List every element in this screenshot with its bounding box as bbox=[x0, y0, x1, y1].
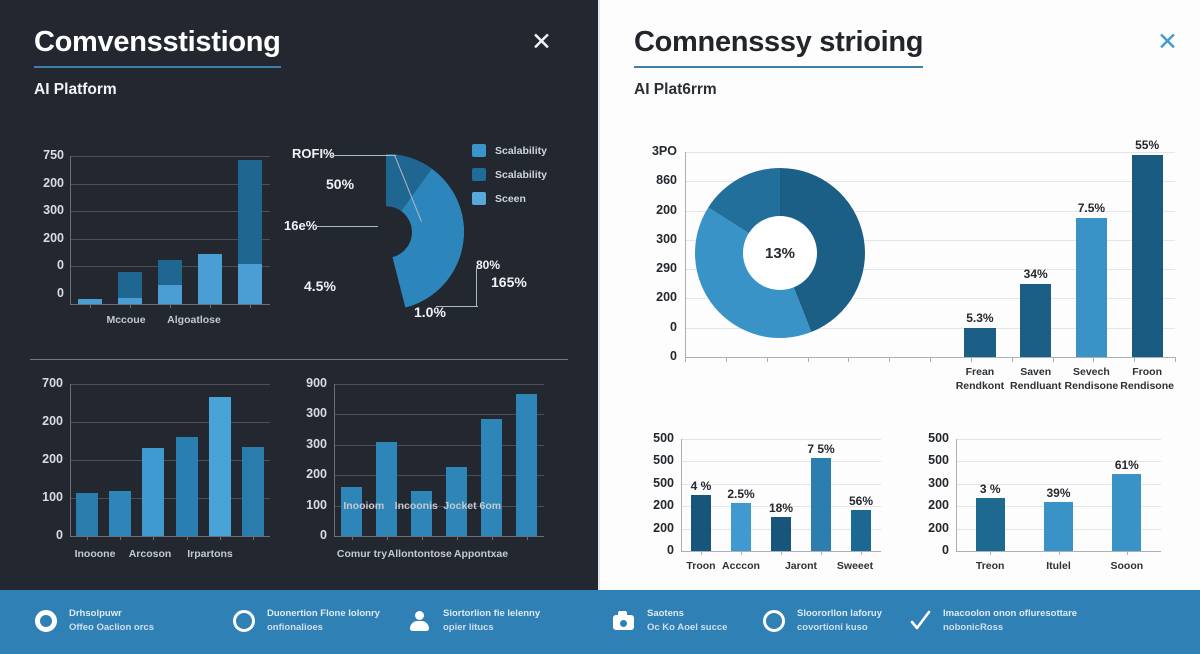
bar bbox=[964, 328, 995, 357]
x-tick bbox=[187, 536, 188, 540]
bar-value-label: 56% bbox=[831, 494, 891, 508]
page-title-right: Comnensssy strioing bbox=[634, 26, 923, 68]
x-tick bbox=[527, 536, 528, 540]
bar bbox=[811, 458, 831, 551]
gridline bbox=[681, 461, 881, 462]
bar bbox=[976, 498, 1005, 551]
x-tick bbox=[1134, 357, 1135, 362]
bar bbox=[1020, 284, 1051, 357]
bar-upper-segment bbox=[158, 260, 183, 285]
x-tick bbox=[422, 536, 423, 540]
leader-line bbox=[476, 268, 477, 306]
footer-item-line2: covortioni kuso bbox=[797, 622, 882, 634]
leader-line bbox=[316, 226, 378, 227]
person-head bbox=[415, 611, 424, 620]
camera-lens bbox=[620, 620, 627, 627]
y-axis-tick-label: 200 bbox=[635, 498, 674, 512]
left-panel: Comvensstistiong AI Platform ✕ 750200300… bbox=[0, 0, 598, 654]
y-axis-tick-label: 0 bbox=[34, 528, 63, 542]
footer-item-text: DrhsolpuwrOffeo Oaclion orcs bbox=[69, 608, 154, 634]
footer-item-line1: Sloororllon laforuy bbox=[797, 608, 882, 620]
donut-annotation-label: 80% bbox=[476, 258, 500, 272]
footer-item-line1: Drhsolpuwr bbox=[69, 608, 154, 620]
circle-ring-icon bbox=[762, 609, 786, 633]
x-axis-category-label: Itulel bbox=[1023, 560, 1095, 572]
bar-value-label: 5.3% bbox=[948, 311, 1012, 325]
bar bbox=[481, 419, 503, 536]
bar-value-label: 39% bbox=[1029, 486, 1089, 500]
y-axis-tick-label: 700 bbox=[34, 376, 63, 390]
page-subtitle: AI Platform bbox=[34, 81, 564, 99]
footer-item[interactable]: Duonertion Flone lolonryonfionalioes bbox=[232, 608, 380, 634]
bar-lower-segment bbox=[198, 254, 223, 304]
bar-value-label: 55% bbox=[1115, 138, 1179, 152]
bar bbox=[1112, 474, 1141, 551]
y-axis-line bbox=[70, 384, 71, 536]
bar-value-label: 7 5% bbox=[791, 442, 851, 456]
x-axis-category-label: Sooon bbox=[1091, 560, 1163, 572]
person-icon bbox=[408, 609, 432, 633]
y-axis-tick-label: 200 bbox=[910, 498, 949, 512]
y-axis-tick-label: 500 bbox=[910, 453, 949, 467]
close-icon-right[interactable]: ✕ bbox=[1157, 30, 1178, 55]
chart-right-bottom-right-bar: 50050030020020003 %39%61%TreonItulelSooo… bbox=[910, 425, 1175, 575]
close-icon[interactable]: ✕ bbox=[531, 30, 552, 55]
legend-swatch bbox=[472, 168, 486, 181]
x-tick bbox=[741, 551, 742, 555]
gridline bbox=[70, 156, 270, 157]
footer-bar: DrhsolpuwrOffeo Oaclion orcsDuonertion F… bbox=[0, 590, 1200, 654]
y-axis-tick-label: 300 bbox=[34, 203, 64, 217]
gridline bbox=[70, 422, 270, 423]
bar bbox=[516, 394, 538, 536]
bar-upper-segment bbox=[118, 272, 143, 298]
panel-divider bbox=[30, 359, 568, 360]
bar-group bbox=[118, 272, 143, 304]
footer-item-line1: Siortorlion fie lelenny bbox=[443, 608, 540, 620]
page-subtitle-right: AI Plat6rrm bbox=[634, 81, 1166, 99]
gridline bbox=[334, 384, 544, 385]
x-axis-line bbox=[334, 536, 544, 537]
x-axis-category-label: Irpartons bbox=[170, 548, 250, 560]
right-panel: Comnensssy strioing AI Plat6rrm ✕ 3PO860… bbox=[598, 0, 1200, 654]
y-axis-tick-label: 0 bbox=[34, 258, 64, 272]
inner-category-label: Jocket 6om bbox=[427, 500, 517, 512]
footer-item-line2: nobonicRoss bbox=[943, 622, 1077, 634]
bar bbox=[76, 493, 98, 536]
x-tick bbox=[1175, 357, 1176, 362]
bar bbox=[376, 442, 398, 536]
donut-chart-graphic bbox=[286, 140, 486, 330]
y-axis-tick-label: 300 bbox=[300, 406, 327, 420]
bar-group bbox=[198, 254, 223, 304]
x-tick bbox=[170, 304, 171, 308]
gridline bbox=[956, 439, 1161, 440]
x-tick bbox=[1053, 357, 1054, 362]
bar-value-label: 61% bbox=[1097, 458, 1157, 472]
x-tick bbox=[210, 304, 211, 308]
y-axis-tick-label: 500 bbox=[635, 431, 674, 445]
footer-item-line1: Duonertion Flone lolonry bbox=[267, 608, 380, 620]
person-body bbox=[410, 621, 429, 631]
bar-value-label: 18% bbox=[751, 501, 811, 515]
footer-item-text: Siortorlion fie lelennyopier litucs bbox=[443, 608, 540, 634]
donut-center-value: 13% bbox=[743, 216, 817, 290]
bar-group bbox=[158, 260, 183, 304]
x-tick bbox=[861, 551, 862, 555]
x-tick bbox=[253, 536, 254, 540]
x-tick bbox=[1059, 551, 1060, 555]
footer-item-line2: Offeo Oaclion orcs bbox=[69, 622, 154, 634]
y-axis-tick-label: 0 bbox=[34, 286, 64, 300]
x-tick bbox=[971, 357, 972, 362]
y-axis-tick-label: 500 bbox=[635, 453, 674, 467]
footer-item-line2: opier litucs bbox=[443, 622, 540, 634]
x-tick bbox=[130, 304, 131, 308]
y-axis-tick-label: 900 bbox=[300, 376, 327, 390]
x-tick bbox=[220, 536, 221, 540]
footer-item[interactable]: Sloororllon laforuycovortioni kuso bbox=[762, 608, 882, 634]
donut-annotation-label: ROFI% bbox=[292, 146, 335, 161]
footer-item-line1: Imacoolon onon ofluresottare bbox=[943, 608, 1077, 620]
x-tick bbox=[1093, 357, 1094, 362]
y-axis-tick-label: 0 bbox=[910, 543, 949, 557]
bar-value-label: 2.5% bbox=[711, 487, 771, 501]
y-axis-line bbox=[70, 156, 71, 304]
gridline bbox=[334, 414, 544, 415]
x-axis-category-label: Algoatlose bbox=[154, 314, 234, 326]
gridline bbox=[334, 445, 544, 446]
bar-value-label: 3 % bbox=[960, 482, 1020, 496]
x-tick bbox=[457, 536, 458, 540]
y-axis-tick-label: 200 bbox=[635, 521, 674, 535]
x-tick bbox=[250, 304, 251, 308]
bar bbox=[209, 397, 231, 536]
y-axis-tick-label: 200 bbox=[300, 467, 327, 481]
y-axis-tick-label: 750 bbox=[34, 148, 64, 162]
bar-value-label: 34% bbox=[1004, 267, 1068, 281]
footer-item-text: Duonertion Flone lolonryonfionalioes bbox=[267, 608, 380, 634]
y-axis-tick-label: 200 bbox=[34, 414, 63, 428]
footer-item-text: Imacoolon onon ofluresottarenobonicRoss bbox=[943, 608, 1077, 634]
footer-item[interactable]: SaotensOc Ko Aoel succe bbox=[612, 608, 727, 634]
legend-swatch bbox=[472, 144, 486, 157]
bar bbox=[731, 503, 751, 551]
legend-item: Sceen bbox=[472, 192, 526, 205]
circle-ring-icon bbox=[34, 609, 58, 633]
x-tick bbox=[352, 536, 353, 540]
gridline bbox=[681, 439, 881, 440]
footer-item-line2: onfionalioes bbox=[267, 622, 380, 634]
x-tick bbox=[701, 551, 702, 555]
bar bbox=[771, 517, 791, 551]
x-tick bbox=[990, 551, 991, 555]
donut-annotation-label: 165% bbox=[491, 274, 527, 290]
legend-item: Scalability bbox=[472, 144, 547, 157]
x-tick bbox=[120, 536, 121, 540]
footer-item-line2: Oc Ko Aoel succe bbox=[647, 622, 727, 634]
chart-left-bottom-left-bar: 7002002001000InoooneArcosonIrpartons bbox=[34, 378, 274, 568]
ring-shape bbox=[763, 610, 785, 632]
x-tick bbox=[492, 536, 493, 540]
y-axis-tick-label: 200 bbox=[34, 231, 64, 245]
right-panel-header: Comnensssy strioing AI Plat6rrm bbox=[600, 0, 1200, 99]
checkmark-icon bbox=[908, 609, 932, 633]
footer-item[interactable]: Imacoolon onon ofluresottarenobonicRoss bbox=[908, 608, 1077, 634]
gridline bbox=[334, 475, 544, 476]
y-axis-tick-label: 500 bbox=[910, 431, 949, 445]
y-axis-tick-label: 200 bbox=[910, 521, 949, 535]
leader-line bbox=[330, 155, 396, 156]
leader-line bbox=[436, 306, 478, 307]
bar-group bbox=[238, 160, 263, 304]
camera-icon bbox=[612, 609, 636, 633]
chart-right-bottom-left-bar: 50050050020020004 %2.5%18%7 5%56%TroonAc… bbox=[635, 425, 895, 575]
category-line-1: Froon bbox=[1101, 366, 1193, 380]
x-axis-category-label: Appontxae bbox=[436, 548, 526, 560]
gridline bbox=[70, 384, 270, 385]
x-tick bbox=[90, 304, 91, 308]
bar bbox=[1044, 502, 1073, 551]
gridline bbox=[70, 460, 270, 461]
page-title: Comvensstistiong bbox=[34, 26, 281, 68]
bar bbox=[176, 437, 198, 536]
x-axis-category-label: Sweeet bbox=[819, 560, 891, 572]
bar-upper-segment bbox=[238, 160, 263, 264]
bar bbox=[242, 447, 264, 536]
bar bbox=[1132, 155, 1163, 357]
x-tick bbox=[1127, 551, 1128, 555]
y-axis-line bbox=[956, 439, 957, 551]
bar bbox=[1076, 218, 1107, 357]
y-axis-tick-label: 300 bbox=[300, 437, 327, 451]
bar bbox=[411, 491, 433, 536]
bar bbox=[691, 495, 711, 551]
footer-item-text: Sloororllon laforuycovortioni kuso bbox=[797, 608, 882, 634]
screenshot-root: Comvensstistiong AI Platform ✕ 750200300… bbox=[0, 0, 1200, 654]
x-axis-category-label: FroonRendisone bbox=[1101, 366, 1193, 393]
x-tick bbox=[781, 551, 782, 555]
bar-lower-segment bbox=[238, 264, 263, 304]
category-line-2: Rendisone bbox=[1101, 380, 1193, 394]
legend-item: Scalability bbox=[472, 168, 547, 181]
chart-left-top-bar: 75020030020000MccoueAlgoatlose bbox=[34, 148, 274, 318]
x-tick bbox=[821, 551, 822, 555]
gridline bbox=[70, 498, 270, 499]
footer-item-line1: Saotens bbox=[647, 608, 727, 620]
chart-left-bottom-right-bar: 9003003002001000InooiomIncoonisJocket 6o… bbox=[300, 378, 550, 568]
y-axis-tick-label: 200 bbox=[34, 176, 64, 190]
chart-left-donut: ROFI%50%16e%4.5%1.0%80%165%ScalabilitySc… bbox=[286, 140, 566, 325]
circle-ring-icon bbox=[232, 609, 256, 633]
donut-annotation-label: 50% bbox=[326, 176, 354, 192]
legend-label: Sceen bbox=[495, 193, 526, 205]
footer-item[interactable]: DrhsolpuwrOffeo Oaclion orcs bbox=[34, 608, 154, 634]
legend-label: Scalability bbox=[495, 145, 547, 157]
y-axis-tick-label: 300 bbox=[910, 476, 949, 490]
y-axis-tick-label: 200 bbox=[34, 452, 63, 466]
bar bbox=[142, 448, 164, 536]
x-axis-line bbox=[70, 536, 270, 537]
x-tick bbox=[87, 536, 88, 540]
left-panel-header: Comvensstistiong AI Platform bbox=[0, 0, 598, 99]
ring-shape bbox=[233, 610, 255, 632]
x-tick bbox=[153, 536, 154, 540]
donut-annotation-label: 16e% bbox=[284, 218, 317, 233]
bar bbox=[851, 510, 871, 551]
y-axis-tick-label: 500 bbox=[635, 476, 674, 490]
donut-annotation-label: 4.5% bbox=[304, 278, 336, 294]
chart-right-main: 3PO8602003002902000013%5.3%FreanRendkont… bbox=[635, 140, 1180, 410]
y-axis-tick-label: 0 bbox=[300, 528, 327, 542]
legend-swatch bbox=[472, 192, 486, 205]
x-tick bbox=[387, 536, 388, 540]
bar bbox=[109, 491, 131, 536]
x-tick bbox=[1012, 357, 1013, 362]
y-axis-tick-label: 100 bbox=[34, 490, 63, 504]
y-axis-tick-label: 0 bbox=[635, 543, 674, 557]
bar-value-label: 7.5% bbox=[1059, 201, 1123, 215]
y-axis-line bbox=[681, 439, 682, 551]
ring-shape bbox=[35, 610, 57, 632]
legend-label: Scalability bbox=[495, 169, 547, 181]
bar-lower-segment bbox=[158, 285, 183, 304]
x-axis-category-label: Treon bbox=[954, 560, 1026, 572]
footer-item-text: SaotensOc Ko Aoel succe bbox=[647, 608, 727, 634]
y-axis-line bbox=[334, 384, 335, 536]
footer-item[interactable]: Siortorlion fie lelennyopier litucs bbox=[408, 608, 540, 634]
